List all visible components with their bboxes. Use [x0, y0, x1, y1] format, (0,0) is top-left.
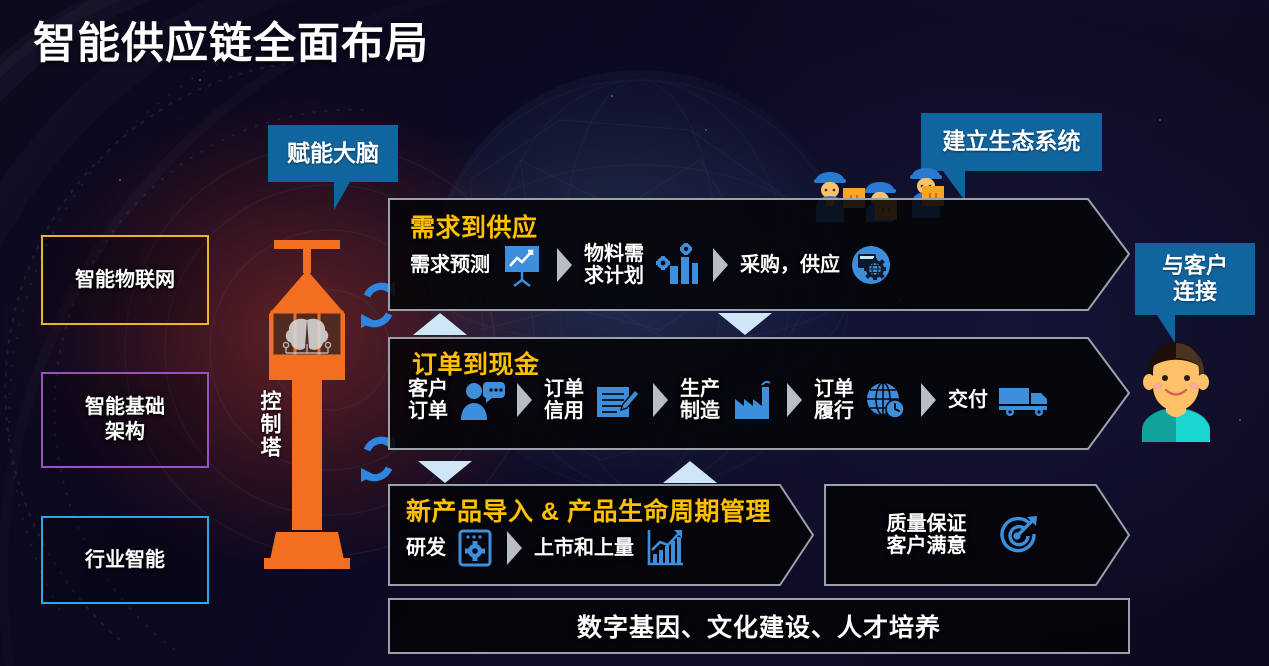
chevron-right-separator-icon	[652, 380, 669, 420]
step-material-requirement-plan[interactable]: 物料需 求计划	[584, 242, 701, 288]
step-label: 采购，供应	[740, 254, 840, 276]
band-steps: 需求预测 物料需 求计划	[410, 242, 893, 288]
band-title: 新产品导入 & 产品生命周期管理	[406, 492, 771, 528]
step-label: 需求预测	[410, 254, 490, 276]
growth-chart-icon	[643, 526, 687, 570]
foundation-content: 数字基因、文化建设、人才培养	[388, 598, 1130, 654]
step-label: 研发	[406, 537, 446, 559]
band-quality-assurance[interactable]: 质量保证 客户满意	[824, 484, 1130, 586]
callout-empower-brain[interactable]: 赋能大脑	[268, 125, 398, 182]
step-order-fulfillment[interactable]: 订单 履行	[814, 377, 909, 423]
chevron-right-separator-icon	[786, 380, 803, 420]
step-rnd[interactable]: 研发	[406, 526, 495, 570]
customer-avatar-icon	[1132, 332, 1220, 442]
callout-label: 建立生态系统	[943, 128, 1081, 156]
step-label: 客户 订单	[408, 378, 448, 423]
target-dart-icon	[994, 512, 1040, 558]
chevron-right-separator-icon	[506, 528, 523, 568]
step-label: 订单 履行	[814, 378, 854, 423]
chevron-right-separator-icon	[516, 380, 533, 420]
step-label: 生产 制造	[680, 378, 720, 423]
pillar-label: 智能物联网	[75, 268, 175, 293]
callout-connect-customer[interactable]: 与客户 连接	[1135, 243, 1255, 315]
pillar-iot[interactable]: 智能物联网	[41, 235, 209, 325]
band-link-up-arrow	[663, 461, 717, 483]
band-link-down-arrow	[718, 313, 772, 335]
callout-tail	[943, 171, 965, 201]
step-label: 上市和上量	[534, 537, 634, 559]
quality-content: 质量保证 客户满意	[824, 484, 1102, 586]
step-demand-forecast[interactable]: 需求预测	[410, 242, 545, 288]
band-link-up-arrow	[413, 313, 467, 335]
customer-chat-icon	[457, 378, 505, 422]
foundation-label: 数字基因、文化建设、人才培养	[577, 608, 941, 644]
step-procurement-supply[interactable]: 采购，供应	[740, 243, 893, 287]
step-production-manufacturing[interactable]: 生产 制造	[680, 377, 775, 423]
band-order-to-cash[interactable]: 订单到现金 客户 订单	[388, 337, 1130, 450]
pillar-label: 智能基础 架构	[85, 395, 165, 445]
bar-chart-gear-icon	[653, 242, 701, 288]
band-steps: 研发 上市和上量	[406, 526, 687, 570]
callout-build-ecosystem[interactable]: 建立生态系统	[921, 113, 1102, 171]
step-order-credit[interactable]: 订单 信用	[544, 378, 641, 423]
step-label: 物料需 求计划	[584, 243, 644, 288]
page-title: 智能供应链全面布局	[33, 9, 429, 71]
pillar-label: 行业智能	[85, 548, 165, 573]
chevron-right-separator-icon	[556, 245, 573, 285]
band-demand-to-supply[interactable]: 需求到供应 需求预测 物料需	[388, 198, 1130, 311]
pillar-industry-intelligence[interactable]: 行业智能	[41, 516, 209, 604]
band-link-down-arrow	[418, 461, 472, 483]
band-title: 需求到供应	[410, 208, 538, 244]
callout-tail	[334, 182, 350, 210]
step-label: 订单 信用	[544, 378, 584, 423]
step-launch-rampup[interactable]: 上市和上量	[534, 526, 687, 570]
chevron-right-separator-icon	[920, 380, 937, 420]
globe-clock-icon	[863, 377, 909, 423]
step-customer-order[interactable]: 客户 订单	[408, 378, 505, 423]
callout-label: 赋能大脑	[287, 140, 379, 168]
quality-label: 质量保证 客户满意	[887, 513, 967, 558]
global-sourcing-icon	[849, 243, 893, 287]
factory-icon	[729, 377, 775, 423]
band-title: 订单到现金	[412, 345, 540, 381]
delivery-truck-icon	[997, 380, 1053, 420]
document-edit-icon	[593, 378, 641, 422]
control-tower-label: 控制塔	[246, 390, 280, 459]
presentation-chart-icon	[499, 242, 545, 288]
pillar-infrastructure[interactable]: 智能基础 架构	[41, 372, 209, 468]
callout-tail	[1157, 315, 1175, 343]
chevron-right-separator-icon	[712, 245, 729, 285]
callout-label: 与客户 连接	[1162, 253, 1228, 306]
step-delivery[interactable]: 交付	[948, 380, 1053, 420]
step-label: 交付	[948, 389, 988, 411]
band-steps: 客户 订单 订单 信用	[408, 377, 1053, 423]
rnd-gear-doc-icon	[455, 526, 495, 570]
slide-canvas: 智能供应链全面布局 智能物联网 智能基础 架构 行业智能	[0, 0, 1269, 666]
band-foundation[interactable]: 数字基因、文化建设、人才培养	[388, 598, 1130, 654]
band-npi-plm[interactable]: 新产品导入 & 产品生命周期管理 研发	[388, 484, 814, 586]
